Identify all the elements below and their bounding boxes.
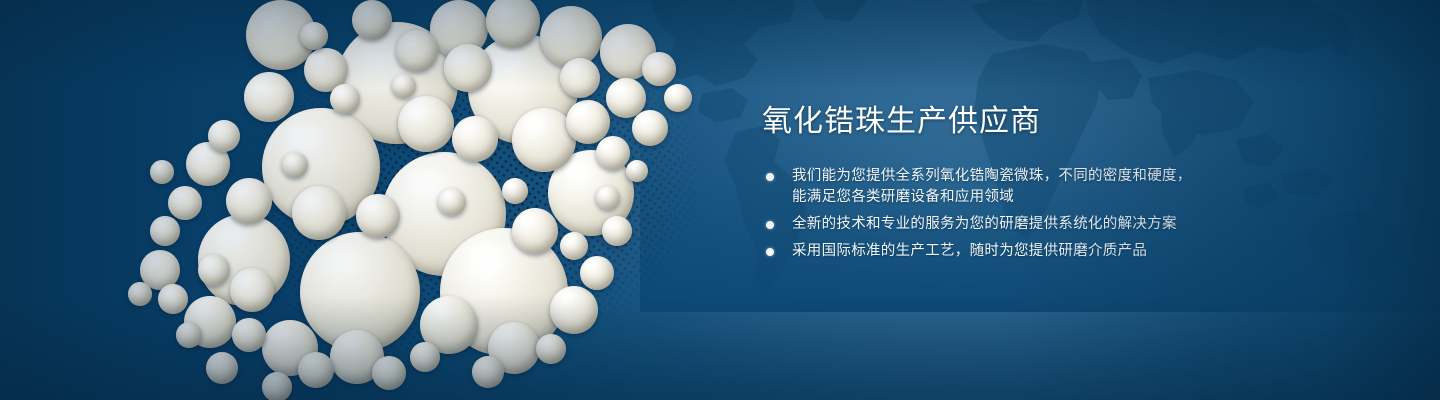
edge-vignette (0, 0, 1440, 400)
promo-banner: 氧化锆珠生产供应商 我们能为您提供全系列氧化锆陶瓷微珠，不同的密度和硬度， 能满… (0, 0, 1440, 400)
